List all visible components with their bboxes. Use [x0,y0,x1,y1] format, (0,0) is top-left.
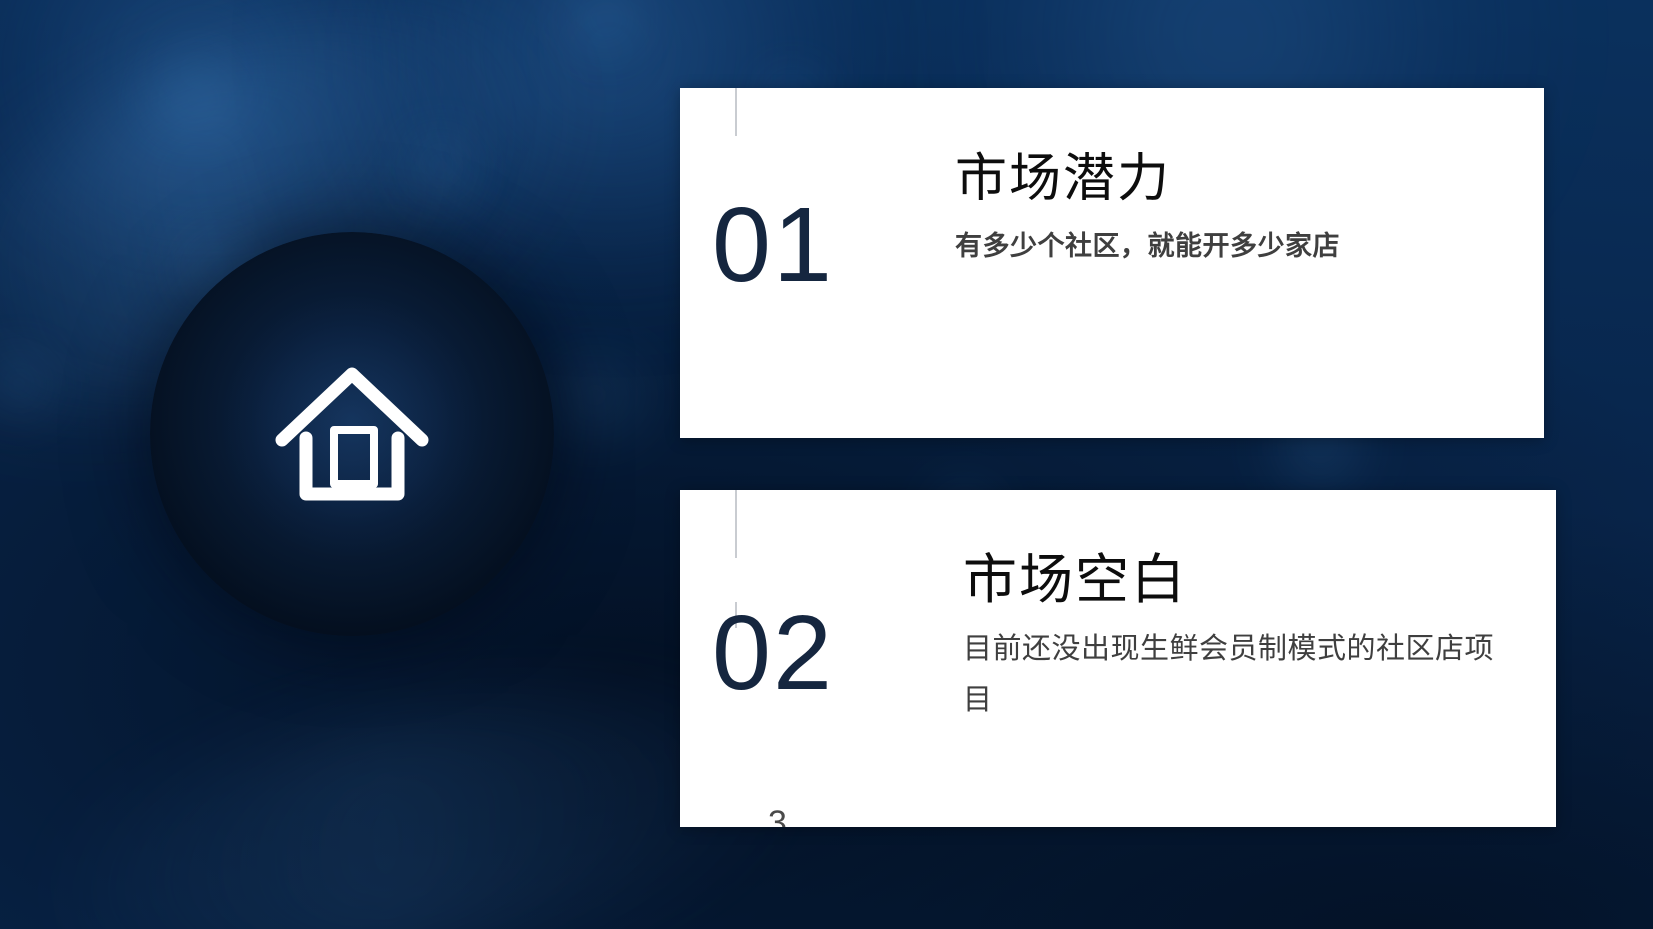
page-number: 3 [768,806,787,827]
card-body: 市场潜力 有多少个社区，就能开多少家店 [955,150,1515,272]
card-tick-mark [735,490,737,558]
card-number: 02 [712,600,834,706]
card-tick-mark [735,88,737,136]
info-card-2[interactable]: 02 市场空白 目前还没出现生鲜会员制模式的社区店项目 3 [680,490,1556,827]
slide-root: 01 市场潜力 有多少个社区，就能开多少家店 02 市场空白 目前还没出现生鲜会… [0,0,1653,929]
house-icon-badge [150,232,554,636]
info-card-1[interactable]: 01 市场潜力 有多少个社区，就能开多少家店 [680,88,1544,438]
card-title: 市场潜力 [955,150,1515,208]
card-title: 市场空白 [963,550,1523,610]
card-subtitle: 目前还没出现生鲜会员制模式的社区店项目 [963,624,1523,726]
card-body: 市场空白 目前还没出现生鲜会员制模式的社区店项目 [963,550,1523,726]
card-number: 01 [712,192,834,298]
house-icon [272,360,432,508]
card-subtitle: 有多少个社区，就能开多少家店 [955,222,1515,272]
